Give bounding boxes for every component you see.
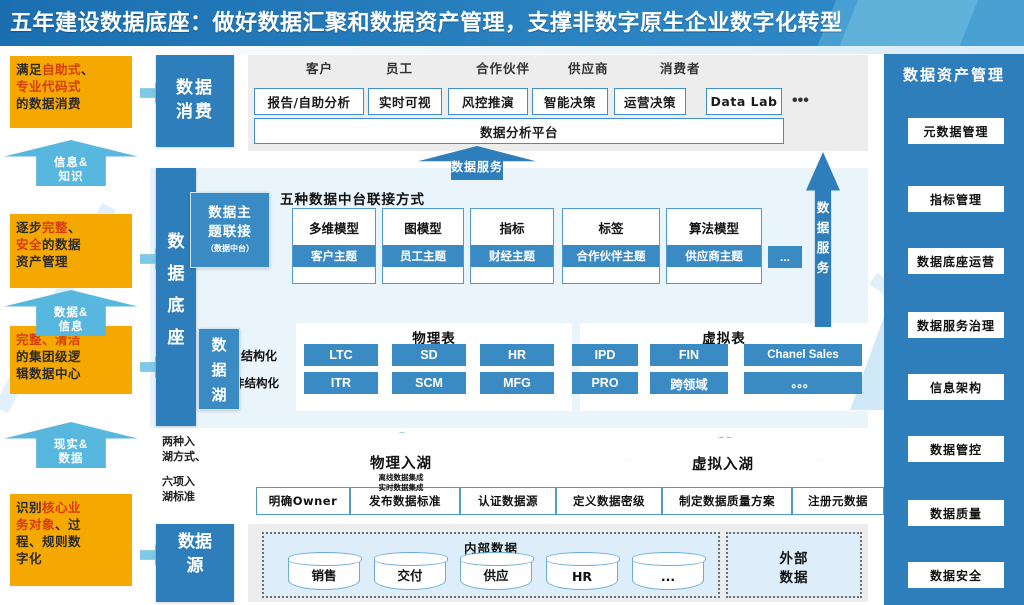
physical-table-chip-r2-c2[interactable]: SCM <box>392 372 466 394</box>
outcome-card-2-line2: 安全的数据 <box>16 236 126 253</box>
outcome-text-segment: 辑数据中心 <box>16 366 81 381</box>
consumption-app-6[interactable]: Data Lab <box>706 88 782 115</box>
transition-arrow-1-line1: 信息& <box>4 156 138 170</box>
asset-management-item-1[interactable]: 元数据管理 <box>908 118 1004 144</box>
outcome-card-4-line2: 务对象、过 <box>16 516 126 533</box>
stage-lake-char3: 湖 <box>199 383 239 408</box>
outcome-card-4-line1: 识别核心业 <box>16 499 126 516</box>
data-service-vertical-char1: 数 <box>806 198 840 218</box>
transition-arrow-2-line1: 数据& <box>4 306 138 320</box>
stage-consume-line1: 数据 <box>156 76 234 100</box>
data-service-vertical-label: 数据服务 <box>806 198 840 278</box>
asset-management-item-6[interactable]: 数据管控 <box>908 436 1004 462</box>
stage-source-line1: 数据 <box>156 530 234 554</box>
outcome-card-1[interactable]: 满足自助式、专业代码式的数据消费 <box>10 56 132 128</box>
asset-management-item-5[interactable]: 信息架构 <box>908 374 1004 400</box>
outcome-text-segment: 务对象 <box>16 517 55 532</box>
audience-2: 员工 <box>386 58 413 77</box>
theme-card-4[interactable]: 标签合作伙伴主题 <box>562 208 660 284</box>
theme-card-1-subject: 客户主题 <box>293 245 375 267</box>
slide-root: 五年建设数据底座：做好数据汇聚和数据资产管理，支撑非数字原生企业数字化转型 满足… <box>0 0 1024 605</box>
stage-data-theme-link[interactable]: 数据主题联接（数据中台） <box>190 192 270 268</box>
internal-source-label-2: 交付 <box>397 565 422 584</box>
lake-standards-note: 两种入 湖方式、 六项入 湖标准 <box>162 434 242 504</box>
virtual-table-chip-r2-c1[interactable]: PRO <box>572 372 638 394</box>
lake-row-label-2: 非结构化 <box>233 372 291 394</box>
outcome-card-3-line2: 的集团级逻 <box>16 348 126 365</box>
theme-card-3[interactable]: 指标财经主题 <box>470 208 554 284</box>
consumption-app-5[interactable]: 运营决策 <box>614 88 686 115</box>
asset-management-item-7[interactable]: 数据质量 <box>908 500 1004 526</box>
lake-standard-4[interactable]: 定义数据密级 <box>556 487 662 515</box>
outcome-text-segment: 字化 <box>16 551 42 566</box>
asset-management-item-2[interactable]: 指标管理 <box>908 186 1004 212</box>
virtual-table-chip-r1-c3[interactable]: Chanel Sales <box>744 344 862 366</box>
theme-card-3-subject: 财经主题 <box>471 245 553 267</box>
internal-source-cylinder-1[interactable]: 销售 <box>288 552 360 590</box>
transition-arrow-3-line1: 现实& <box>4 438 138 452</box>
internal-source-cylinder-3[interactable]: 供应 <box>460 552 532 590</box>
theme-card-4-subject: 合作伙伴主题 <box>563 245 659 267</box>
stage-base-char3: 底 <box>156 290 196 322</box>
virtual-table-chip-r1-c1[interactable]: IPD <box>572 344 638 366</box>
lake-note-line3: 六项入 <box>162 474 242 489</box>
consumption-app-3[interactable]: 风控推演 <box>448 88 528 115</box>
physical-table-chip-r1-c3[interactable]: HR <box>480 344 554 366</box>
outcome-text-segment: 程、规则数 <box>16 534 81 549</box>
lake-note-line1: 两种入 <box>162 434 242 449</box>
audience-row: 客户员工合作伙伴供应商消费者 <box>268 58 848 80</box>
theme-section-title: 五种数据中台联接方式 <box>280 188 425 208</box>
page-title: 五年建设数据底座：做好数据汇聚和数据资产管理，支撑非数字原生企业数字化转型 <box>10 8 843 38</box>
outcome-text-segment: 、 <box>68 220 81 235</box>
outcome-card-3[interactable]: 完整、清洁的集团级逻辑数据中心 <box>10 326 132 394</box>
outcome-text-segment: 自助式 <box>42 62 81 77</box>
transition-arrow-3: 现实&数据 <box>4 422 138 468</box>
audience-5: 消费者 <box>660 58 701 77</box>
stage-data-source[interactable]: 数据源 <box>156 524 234 602</box>
physical-table-chip-r2-c3[interactable]: MFG <box>480 372 554 394</box>
outcome-text-segment: 识别 <box>16 500 42 515</box>
external-data-title: 外部数据 <box>728 550 860 588</box>
outcome-text-segment: 满足 <box>16 62 42 77</box>
internal-source-cylinder-2[interactable]: 交付 <box>374 552 446 590</box>
transition-arrow-3-line2: 数据 <box>4 452 138 466</box>
outcome-card-2-line3: 资产管理 <box>16 253 126 270</box>
outcome-text-segment: 资产管理 <box>16 254 68 269</box>
external-data-group: 外部数据 <box>726 532 862 598</box>
outcome-card-3-line3: 辑数据中心 <box>16 365 126 382</box>
theme-card-5[interactable]: 算法模型供应商主题 <box>666 208 762 284</box>
stage-base-char4: 座 <box>156 322 196 354</box>
stage-source-line2: 源 <box>156 554 234 578</box>
physical-table-chip-r1-c1[interactable]: LTC <box>304 344 378 366</box>
stage-data-consumption[interactable]: 数据消费 <box>156 55 234 147</box>
theme-card-1-type: 多维模型 <box>293 209 375 245</box>
stage-theme-line1: 数据主 <box>191 204 269 223</box>
lake-note-line4: 湖标准 <box>162 489 242 504</box>
outcome-card-4-line3: 程、规则数 <box>16 533 126 550</box>
data-service-vertical-char2: 据 <box>806 218 840 238</box>
audience-3: 合作伙伴 <box>476 58 530 77</box>
stage-theme-subtitle: （数据中台） <box>191 243 269 255</box>
stage-consume-line2: 消费 <box>156 100 234 124</box>
outcome-card-1-line1: 满足自助式、 <box>16 61 126 78</box>
data-analysis-platform-box[interactable]: 数据分析平台 <box>254 118 784 144</box>
outcome-text-segment: 的数据 <box>42 237 81 252</box>
outcome-text-segment: 、过 <box>55 517 81 532</box>
consumption-app-1[interactable]: 报告/自助分析 <box>254 88 364 115</box>
outcome-card-4[interactable]: 识别核心业务对象、过程、规则数字化 <box>10 494 132 586</box>
stage-lake-char2: 据 <box>199 358 239 383</box>
theme-card-2-subject: 员工主题 <box>383 245 463 267</box>
internal-source-label-3: 供应 <box>483 565 508 584</box>
internal-source-cylinder-5[interactable]: ... <box>632 552 704 590</box>
stage-data-lake[interactable]: 数据湖 <box>198 328 240 410</box>
outcome-card-1-line3: 的数据消费 <box>16 95 126 112</box>
theme-card-2-type: 图模型 <box>383 209 463 245</box>
outcome-text-segment: 逐步 <box>16 220 42 235</box>
virtual-table-chip-r1-c2[interactable]: FIN <box>650 344 728 366</box>
theme-card-3-type: 指标 <box>471 209 553 245</box>
internal-source-cylinder-4[interactable]: HR <box>546 552 618 590</box>
external-data-title-line2: 数据 <box>728 569 860 588</box>
outcome-card-4-line4: 字化 <box>16 550 126 567</box>
audience-1: 客户 <box>306 58 333 77</box>
virtual-table-chip-r2-c3[interactable]: 。。。 <box>744 372 862 394</box>
outcome-text-segment: 核心业 <box>42 500 81 515</box>
asset-management-item-8[interactable]: 数据安全 <box>908 562 1004 588</box>
header-underline <box>0 46 1024 54</box>
lake-note-line2: 湖方式、 <box>162 449 242 464</box>
internal-source-label-5: ... <box>661 569 675 584</box>
data-service-vertical-char3: 服 <box>806 238 840 258</box>
outcome-text-segment: 专业代码式 <box>16 79 81 94</box>
theme-card-5-subject: 供应商主题 <box>667 245 761 267</box>
left-outcomes-column: 满足自助式、专业代码式的数据消费逐步完整、安全的数据资产管理完整、清洁的集团级逻… <box>4 54 144 602</box>
external-data-title-line1: 外部 <box>728 550 860 569</box>
data-service-vertical-char4: 务 <box>806 258 840 278</box>
outcome-card-2[interactable]: 逐步完整、安全的数据资产管理 <box>10 214 132 288</box>
lake-standard-6[interactable]: 注册元数据 <box>792 487 884 515</box>
physical-table-chip-r2-c1[interactable]: ITR <box>304 372 378 394</box>
physical-table-chip-r1-c2[interactable]: SD <box>392 344 466 366</box>
asset-management-item-3[interactable]: 数据底座运营 <box>908 248 1004 274</box>
virtual-inlet-title: 虚拟入湖 <box>692 457 754 473</box>
consumption-app-4[interactable]: 智能决策 <box>532 88 608 115</box>
theme-card-4-type: 标签 <box>563 209 659 245</box>
outcome-card-2-line1: 逐步完整、 <box>16 219 126 236</box>
transition-arrow-1-line2: 知识 <box>4 170 138 184</box>
outcome-text-segment: 安全 <box>16 237 42 252</box>
virtual-table-chip-r2-c2[interactable]: 跨领域 <box>650 372 728 394</box>
data-service-arrow-label: 数据服务 <box>418 158 536 175</box>
outcome-text-segment: 的集团级逻 <box>16 349 81 364</box>
theme-more-chip[interactable]: ... <box>768 246 802 268</box>
stage-lake-char1: 数 <box>199 333 239 358</box>
physical-inlet-title: 物理入湖 <box>370 456 432 472</box>
lake-standard-5[interactable]: 制定数据质量方案 <box>662 487 792 515</box>
stage-theme-line2: 题联接 <box>191 223 269 242</box>
physical-inlet-sub1: 离线数据集成 <box>296 473 506 483</box>
audience-4: 供应商 <box>568 58 609 77</box>
transition-arrow-1: 信息&知识 <box>4 140 138 186</box>
consumption-app-2[interactable]: 实时可视 <box>368 88 442 115</box>
asset-management-item-4[interactable]: 数据服务治理 <box>908 312 1004 338</box>
theme-card-5-type: 算法模型 <box>667 209 761 245</box>
outcome-text-segment: 、 <box>81 62 94 77</box>
physical-inlet-label: 物理入湖 离线数据集成 实时数据集成 <box>296 452 506 493</box>
outcome-text-segment: 完整 <box>42 220 68 235</box>
lake-row-label-1: 结构化 <box>241 344 299 366</box>
physical-inlet-sub2: 实时数据集成 <box>296 483 506 493</box>
outcome-text-segment: 的数据消费 <box>16 96 81 111</box>
theme-card-2[interactable]: 图模型员工主题 <box>382 208 464 284</box>
internal-source-label-1: 销售 <box>311 565 336 584</box>
data-asset-management-title: 数据资产管理 <box>884 64 1024 85</box>
theme-card-1[interactable]: 多维模型客户主题 <box>292 208 376 284</box>
internal-source-label-4: HR <box>572 569 592 584</box>
virtual-inlet-label: 虚拟入湖 <box>628 453 818 474</box>
outcome-card-1-line2: 专业代码式 <box>16 78 126 95</box>
consumption-app-more-icon[interactable]: ••• <box>792 92 809 110</box>
